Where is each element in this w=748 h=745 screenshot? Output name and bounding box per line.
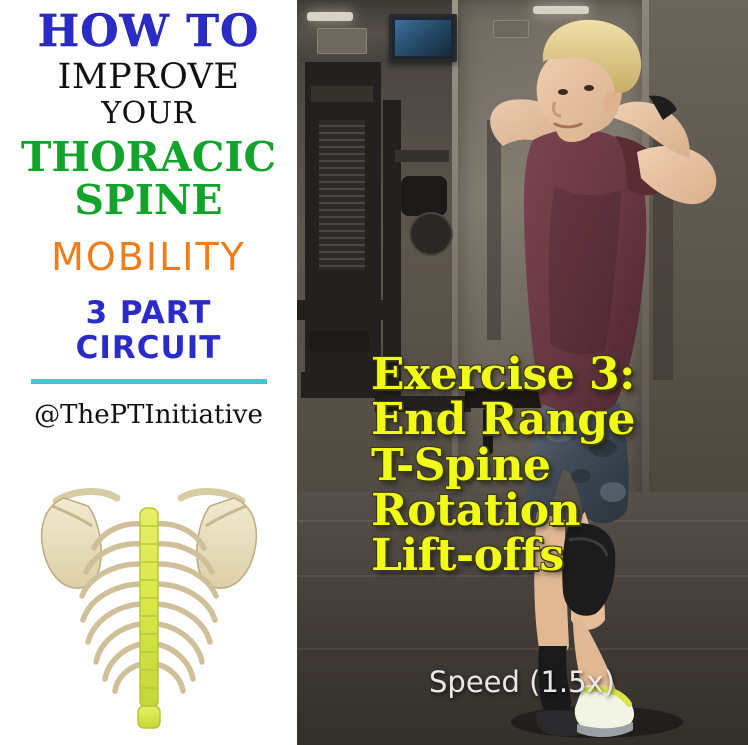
caption-line-1: Exercise 3: (371, 352, 701, 397)
exercise-video-frame: Exercise 3: End Range T-Spine Rotation L… (297, 0, 748, 745)
title-circuit: CIRCUIT (0, 331, 297, 366)
rib-cage-svg (22, 468, 276, 730)
exercise-caption: Exercise 3: End Range T-Spine Rotation L… (371, 352, 701, 579)
eye-left (558, 89, 568, 95)
eye-right (584, 85, 594, 91)
caption-line-3: T-Spine (371, 443, 701, 488)
account-handle: @ThePTInitiative (0, 400, 297, 430)
caption-line-5: Lift-offs (371, 533, 701, 578)
title-three-part: 3 PART (0, 296, 297, 331)
caption-line-4: Rotation (371, 488, 701, 533)
title-how-to: HOW TO (0, 10, 297, 54)
left-title-panel: HOW TO IMPROVE YOUR THORACIC SPINE MOBIL… (0, 0, 297, 745)
title-thoracic: THORACIC (0, 137, 297, 179)
instagram-fitness-poster: HOW TO IMPROVE YOUR THORACIC SPINE MOBIL… (0, 0, 748, 745)
caption-line-2: End Range (371, 397, 701, 442)
title-mobility: MOBILITY (0, 238, 297, 276)
speed-label: Speed (1.5x) (429, 665, 615, 699)
skeleton-illustration (22, 468, 276, 730)
divider-rule (31, 379, 267, 384)
title-your: YOUR (0, 99, 297, 129)
title-spine: SPINE (0, 179, 297, 222)
near-upper-arm (637, 146, 716, 204)
title-improve: IMPROVE (0, 60, 297, 95)
